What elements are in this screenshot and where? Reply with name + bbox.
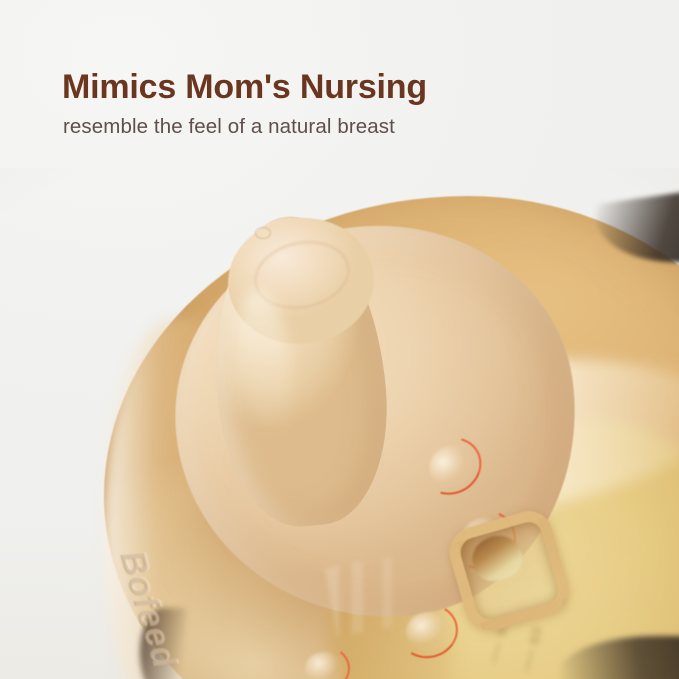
- product-feature-image: Mimics Mom's Nursing resemble the feel o…: [0, 0, 679, 679]
- product-photo-stage: 270 180 150 90 60 Bofeed: [0, 168, 679, 679]
- scale-tick-icon: [493, 642, 500, 664]
- scale-label: 60: [525, 624, 546, 646]
- page-subtitle: resemble the feel of a natural breast: [63, 114, 622, 140]
- scale-tick-icon: [526, 650, 533, 672]
- headline-block: Mimics Mom's Nursing resemble the feel o…: [62, 66, 622, 140]
- page-title: Mimics Mom's Nursing: [62, 66, 622, 108]
- nipple-vent-hole-icon: [255, 227, 271, 239]
